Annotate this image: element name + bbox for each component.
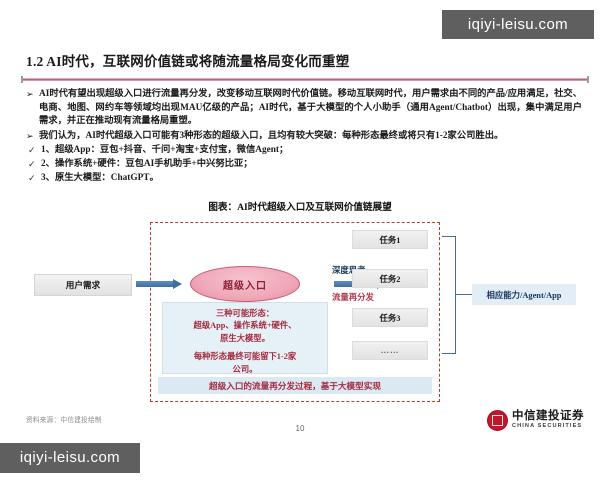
sub-bullet-text: 3、原生大模型：ChatGPT。: [41, 171, 582, 185]
bullet-text: 我们认为，AI时代超级入口可能有3种形态的超级入口，且均有较大突破：每种形态最终…: [39, 130, 582, 144]
three-forms-box: 三种可能形态： 超级App、操作系统+硬件、 原生大模型。 每种形态最终可能留下…: [162, 302, 328, 374]
task-box-more: ……: [352, 341, 428, 360]
sub-bullet-text: 1、超级App：豆包+抖音、千问+淘宝+支付宝，微信Agent；: [41, 143, 582, 157]
task-box-3: 任务3: [352, 308, 428, 327]
redistribution-label: 流量再分发: [332, 291, 374, 303]
logo-name-en: CHINA SECURITIES: [512, 424, 584, 430]
super-entry-node: 超级入口: [190, 266, 300, 302]
forms-line-2: 超级App、操作系统+硬件、: [169, 320, 321, 332]
brace-connector: [442, 236, 456, 354]
task-box-2: 任务2: [352, 269, 428, 288]
user-demand-box: 用户需求: [34, 274, 132, 296]
sub-bullet-item: ✓ 1、超级App：豆包+抖音、千问+淘宝+支付宝，微信Agent；: [26, 143, 582, 157]
exhibit-diagram: 用户需求 超级入口 三种可能形态： 超级App、操作系统+硬件、 原生大模型。 …: [22, 214, 578, 406]
forms-line-1: 三种可能形态：: [169, 308, 321, 320]
check-icon: ✓: [28, 171, 41, 185]
forms-line-4: 每种形态最终可能留下1-2家: [169, 351, 321, 363]
logo-name-cn: 中信建投证券: [512, 411, 584, 423]
exhibit-title: 图表：AI时代超级入口及互联网价值链展望: [0, 199, 600, 213]
brand-logo: 中信建投证券 CHINA SECURITIES: [487, 410, 584, 431]
bullet-marker-icon: ➢: [26, 130, 39, 144]
sub-bullet-text: 2、操作系统+硬件：豆包AI手机助手+中兴努比亚；: [41, 157, 582, 171]
body-content: ➢ AI时代有望出现超级入口进行流量再分发，改变移动互联网时代价值链。移动互联网…: [26, 88, 582, 185]
bullet-item: ➢ 我们认为，AI时代超级入口可能有3种形态的超级入口，且均有较大突破：每种形态…: [26, 130, 582, 144]
title-divider: [22, 78, 588, 81]
source-note: 资料来源：中信建投绘制: [26, 414, 102, 424]
arrow-user-to-entry-icon: [136, 279, 182, 289]
slide-page: iqiyi-leisu.com iqiyi-leisu.com 1.2 AI时代…: [0, 0, 600, 480]
watermark-bottom: iqiyi-leisu.com: [0, 443, 140, 473]
check-icon: ✓: [28, 157, 41, 171]
bullet-item: ➢ AI时代有望出现超级入口进行流量再分发，改变移动互联网时代价值链。移动互联网…: [26, 88, 582, 129]
seal-icon: [487, 410, 508, 431]
task-box-1: 任务1: [352, 230, 428, 249]
watermark-top: iqiyi-leisu.com: [442, 10, 594, 39]
capability-box: 相应能力/Agent/App: [472, 284, 576, 305]
sub-bullet-item: ✓ 2、操作系统+硬件：豆包AI手机助手+中兴努比亚；: [26, 157, 582, 171]
exhibit-caption: 超级入口的流量再分发过程，基于大模型实现: [158, 377, 432, 394]
bullet-marker-icon: ➢: [26, 88, 39, 102]
sub-bullet-item: ✓ 3、原生大模型：ChatGPT。: [26, 171, 582, 185]
forms-line-3: 原生大模型。: [169, 333, 321, 345]
title-divider-cap-right: [587, 76, 589, 83]
title-divider-cap-left: [21, 76, 23, 83]
page-title: 1.2 AI时代，互联网价值链或将随流量格局变化而重塑: [26, 50, 349, 70]
forms-line-5: 公司。: [169, 364, 321, 376]
bullet-text: AI时代有望出现超级入口进行流量再分发，改变移动互联网时代价值链。移动互联网时代…: [39, 88, 582, 129]
check-icon: ✓: [28, 143, 41, 157]
logo-text: 中信建投证券 CHINA SECURITIES: [512, 411, 584, 429]
